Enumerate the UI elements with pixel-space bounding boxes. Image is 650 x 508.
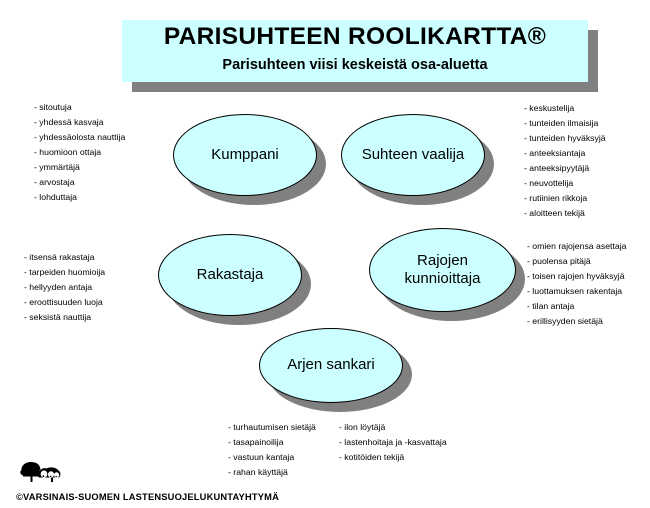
note-line: - omien rajojensa asettaja (527, 239, 626, 254)
note-line: - lastenhoitaja ja -kasvattaja (339, 435, 447, 450)
copyright-credit: ©VARSINAIS-SUOMEN LASTENSUOJELUKUNTAYHTY… (16, 492, 279, 502)
role-label: Rajojen kunnioittaja (397, 252, 489, 289)
note-line: - anteeksipyytäjä (524, 161, 606, 176)
role-ellipse-rajojen-kunnioittaja[interactable]: Rajojen kunnioittaja (369, 228, 516, 312)
role-ellipse-kumppani[interactable]: Kumppani (173, 114, 317, 196)
page-title: PARISUHTEEN ROOLIKARTTA® (122, 23, 588, 51)
ellipse-body: Arjen sankari (259, 328, 403, 403)
note-line: - eroottisuuden luoja (24, 295, 105, 310)
notes-suhteen-vaalija: - keskustelija - tunteiden ilmaisija - t… (524, 101, 606, 221)
role-label: Suhteen vaalija (354, 146, 473, 164)
note-line: - erillisyyden sietäjä (527, 314, 626, 329)
role-ellipse-arjen-sankari[interactable]: Arjen sankari (259, 328, 403, 403)
note-line: - ilon löytäjä (339, 420, 447, 435)
note-line: - kotitöiden tekijä (339, 450, 447, 465)
title-banner: PARISUHTEEN ROOLIKARTTA® Parisuhteen vii… (122, 20, 588, 82)
note-line: - luottamuksen rakentaja (527, 284, 626, 299)
note-line: - vastuun kantaja (228, 450, 316, 465)
note-line: - anteeksiantaja (524, 146, 606, 161)
note-line: - toisen rajojen hyväksyjä (527, 269, 626, 284)
role-ellipse-rakastaja[interactable]: Rakastaja (158, 234, 302, 316)
ellipse-body: Suhteen vaalija (341, 114, 485, 196)
page-subtitle: Parisuhteen viisi keskeistä osa-aluetta (122, 57, 588, 73)
note-line: - keskustelija (524, 101, 606, 116)
notes-kumppani: - sitoutuja - yhdessä kasvaja - yhdessäo… (34, 100, 125, 205)
role-ellipse-suhteen-vaalija[interactable]: Suhteen vaalija (341, 114, 485, 196)
note-line: - tunteiden ilmaisija (524, 116, 606, 131)
role-label: Rakastaja (189, 266, 272, 284)
note-line: - hellyyden antaja (24, 280, 105, 295)
roolikartta-poster: PARISUHTEEN ROOLIKARTTA® Parisuhteen vii… (0, 0, 650, 508)
notes-arjen-sankari-col2: - ilon löytäjä - lastenhoitaja ja -kasva… (339, 420, 447, 465)
note-line: - yhdessäolosta nauttija (34, 130, 125, 145)
note-line: - tilan antaja (527, 299, 626, 314)
ellipse-body: Kumppani (173, 114, 317, 196)
note-line: - lohduttaja (34, 190, 125, 205)
notes-arjen-sankari-col1: - turhautumisen sietäjä - tasapainoilija… (228, 420, 316, 480)
note-line: - itsensä rakastaja (24, 250, 105, 265)
note-line: - tarpeiden huomioija (24, 265, 105, 280)
note-line: - yhdessä kasvaja (34, 115, 125, 130)
note-line: - sitoutuja (34, 100, 125, 115)
role-label: Kumppani (203, 146, 287, 164)
note-line: - turhautumisen sietäjä (228, 420, 316, 435)
ellipse-body: Rakastaja (158, 234, 302, 316)
note-line: - rutiinien rikkoja (524, 191, 606, 206)
note-line: - huomioon ottaja (34, 145, 125, 160)
notes-rakastaja: - itsensä rakastaja - tarpeiden huomioij… (24, 250, 105, 325)
note-line: - ymmärtäjä (34, 160, 125, 175)
note-line: - tunteiden hyväksyjä (524, 131, 606, 146)
note-line: - puolensa pitäjä (527, 254, 626, 269)
note-line: - rahan käyttäjä (228, 465, 316, 480)
notes-rajojen-kunnioittaja: - omien rajojensa asettaja - puolensa pi… (527, 239, 626, 329)
note-line: - aloitteen tekijä (524, 206, 606, 221)
ellipse-body: Rajojen kunnioittaja (369, 228, 516, 312)
role-label: Arjen sankari (279, 356, 383, 374)
note-line: - arvostaja (34, 175, 125, 190)
note-line: - tasapainoilija (228, 435, 316, 450)
note-line: - seksistä nauttija (24, 310, 105, 325)
note-line: - neuvottelija (524, 176, 606, 191)
tree-logo-icon (18, 458, 64, 486)
